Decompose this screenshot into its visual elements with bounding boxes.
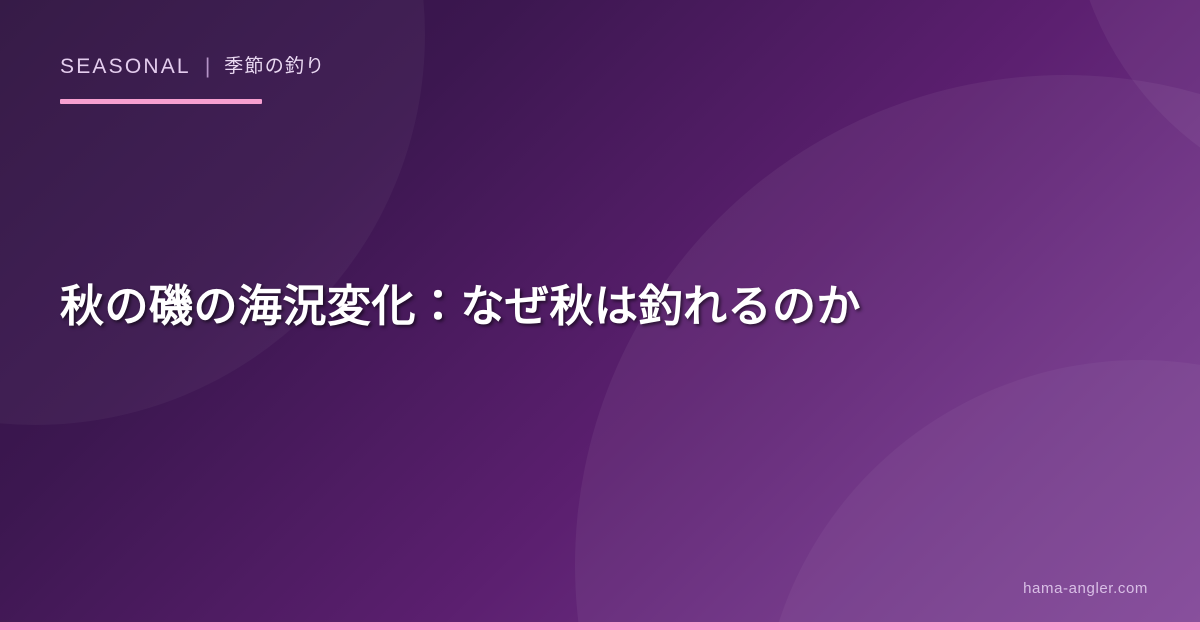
accent-underline xyxy=(60,99,262,104)
page-title: 秋の磯の海況変化：なぜ秋は釣れるのか xyxy=(60,277,1110,336)
bottom-accent-bar xyxy=(0,622,1200,630)
breadcrumb-separator-icon: | xyxy=(205,56,210,77)
breadcrumb: SEASONAL | 季節の釣り xyxy=(60,56,325,77)
card-content: SEASONAL | 季節の釣り 秋の磯の海況変化：なぜ秋は釣れるのか hama… xyxy=(0,0,1200,630)
category-label: SEASONAL xyxy=(60,56,191,77)
site-domain-label: hama-angler.com xyxy=(1023,580,1148,597)
subcategory-label: 季節の釣り xyxy=(224,57,325,76)
ogp-card: SEASONAL | 季節の釣り 秋の磯の海況変化：なぜ秋は釣れるのか hama… xyxy=(0,0,1200,630)
category-block: SEASONAL | 季節の釣り xyxy=(60,56,325,104)
